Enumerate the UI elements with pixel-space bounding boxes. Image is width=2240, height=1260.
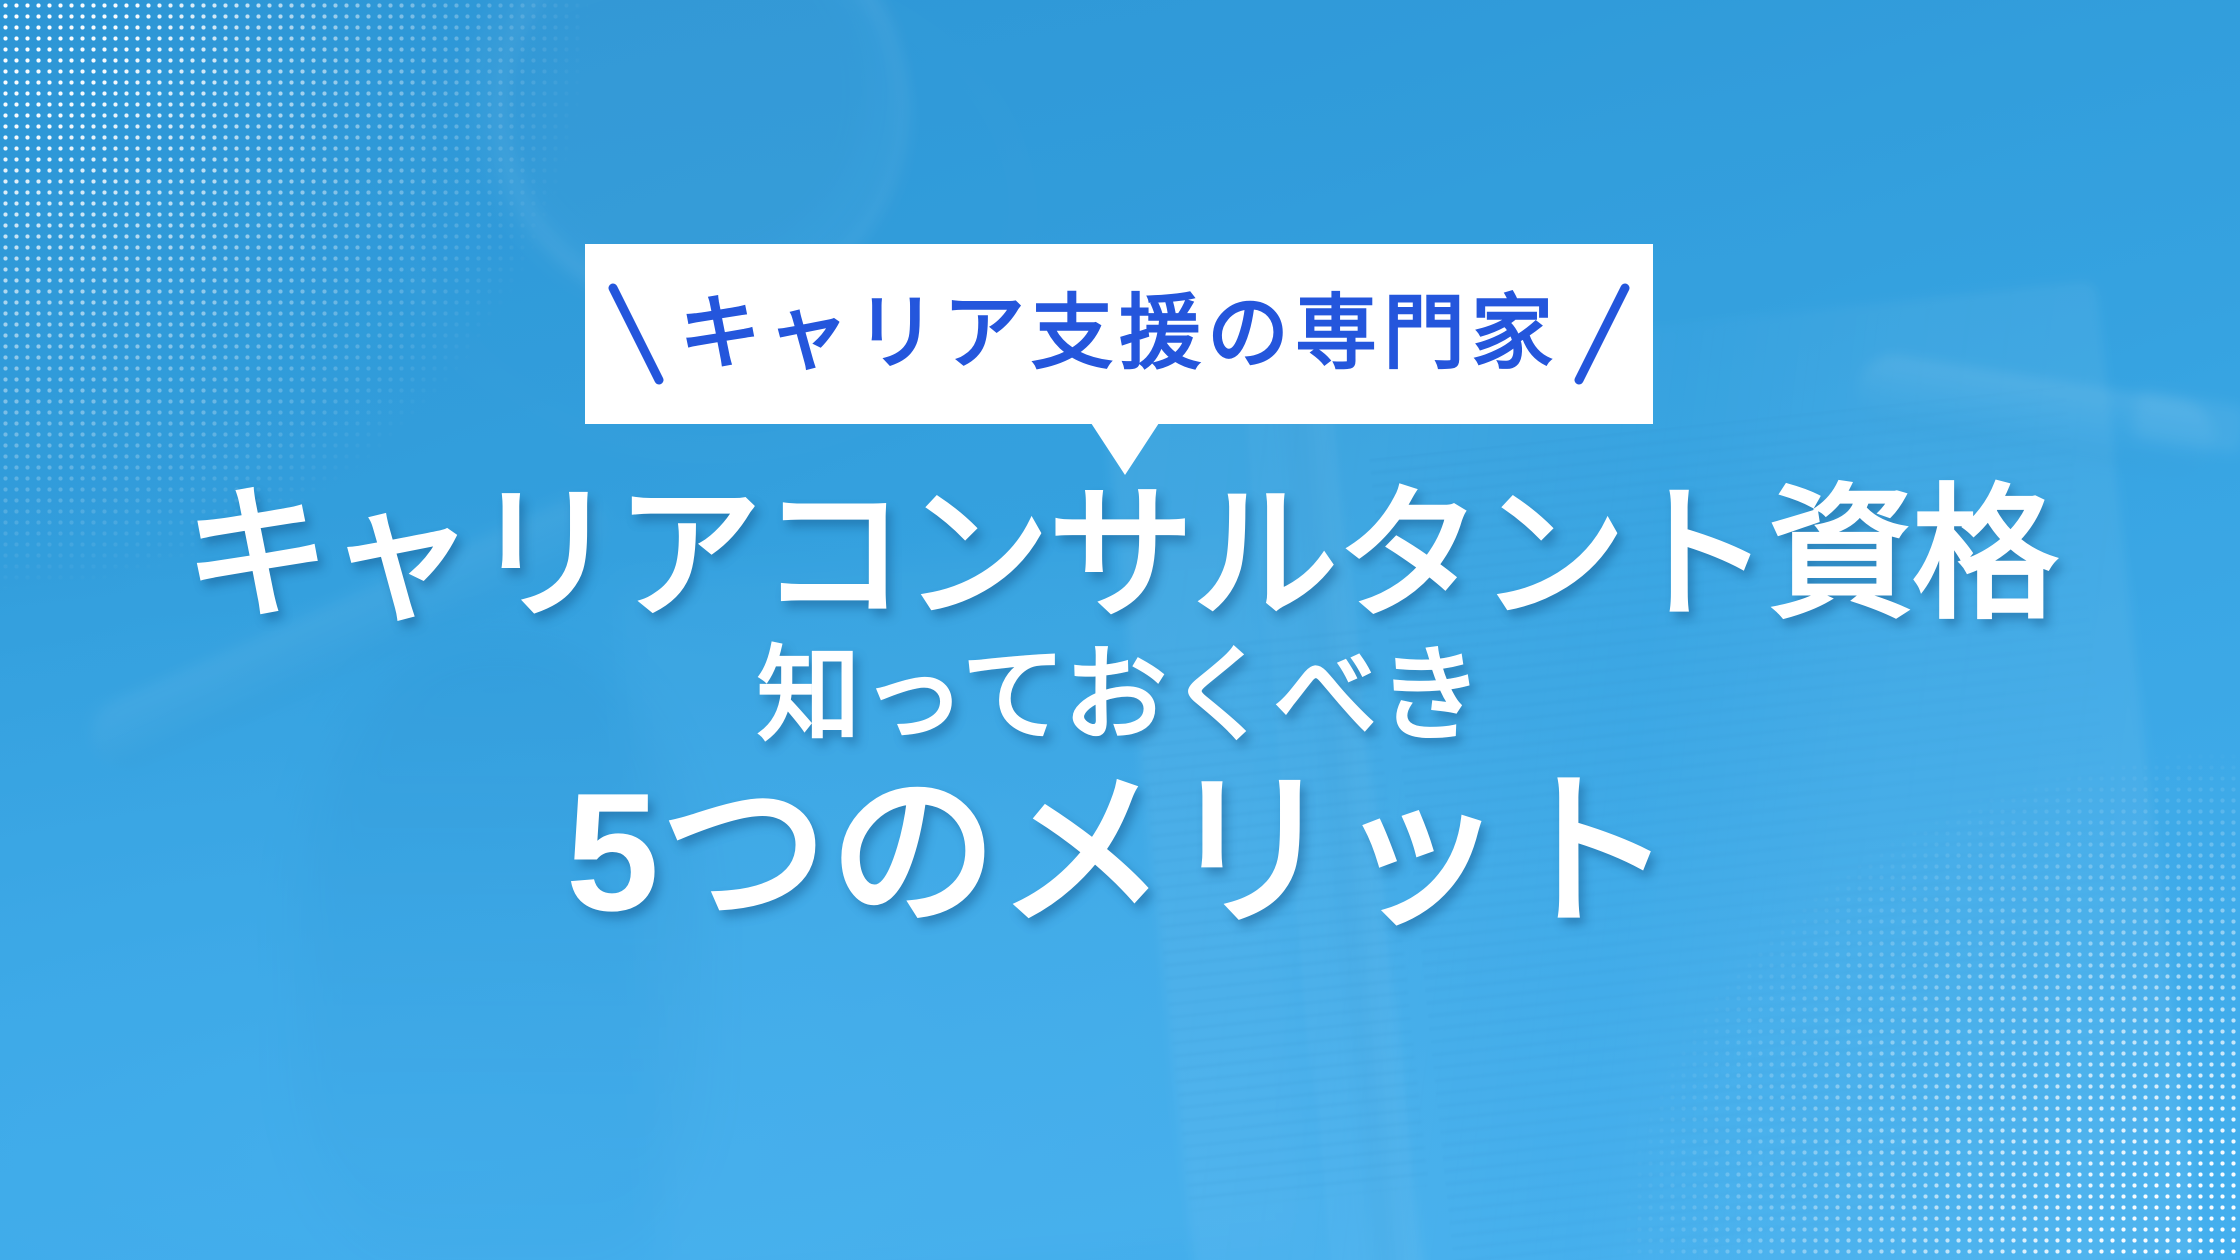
badge-label: キャリア支援の専門家: [669, 293, 1569, 375]
banner-canvas: キャリア支援の専門家 キャリアコンサルタント資格 知っておくべき 5つのメリット: [0, 0, 2240, 1260]
speech-bubble-tail: [1091, 423, 1159, 475]
headline-line-1: キャリアコンサルタント資格: [0, 478, 2240, 633]
headline-line-3: 5つのメリット: [0, 760, 2240, 945]
badge-content-row: キャリア支援の専門家: [585, 280, 1653, 388]
backslash-icon: [607, 280, 665, 388]
forwardslash-icon: [1573, 280, 1631, 388]
speech-bubble-badge: キャリア支援の専門家: [585, 244, 1653, 424]
headline-line-2: 知っておくべき: [0, 633, 2240, 760]
headline-block: キャリアコンサルタント資格 知っておくべき 5つのメリット: [0, 478, 2240, 944]
